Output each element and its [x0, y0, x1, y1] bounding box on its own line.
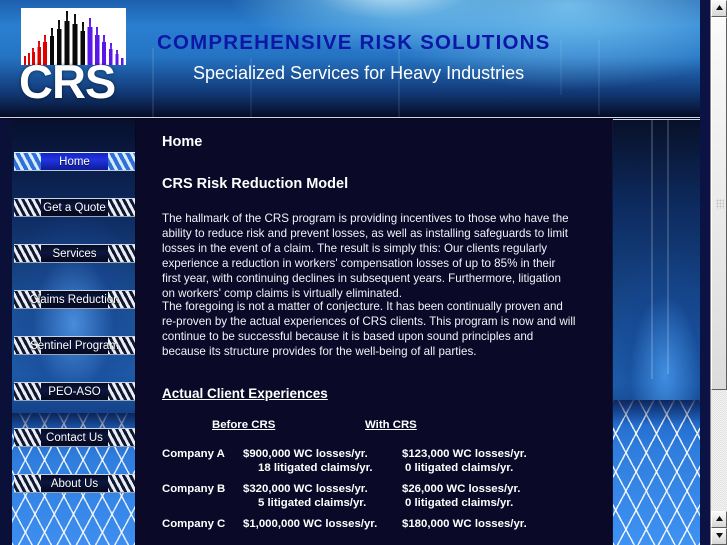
with-losses-value: $26,000 WC losses/yr.: [402, 483, 520, 495]
sidebar-item-label: Get a Quote: [14, 199, 135, 217]
sidebar-item-label: Sentinel Program: [14, 337, 135, 355]
sidebar-item-home[interactable]: Home: [14, 152, 135, 171]
scrollbar-thumb[interactable]: [711, 17, 727, 390]
sidebar-item-claims-reduction[interactable]: Claims Reduction: [14, 290, 135, 309]
company-name: Company A: [162, 448, 225, 460]
crs-logo[interactable]: CRS: [21, 8, 126, 113]
before-losses-value: $320,000 WC losses/yr.: [243, 483, 368, 495]
sidebar-item-label: Home: [14, 153, 135, 171]
before-claims-value: 5 litigated claims/yr.: [258, 497, 366, 509]
page-title: CRS Risk Reduction Model: [162, 176, 348, 192]
left-gutter: [0, 119, 12, 545]
intro-paragraph-2: The foregoing is not a matter of conject…: [162, 299, 576, 359]
right-panel-light-streaks: [613, 119, 700, 409]
with-claims-value: 0 litigated claims/yr.: [405, 462, 513, 474]
table-row-claims: 18 litigated claims/yr.0 litigated claim…: [162, 462, 582, 476]
table-row-losses: Company A$900,000 WC losses/yr.$123,000 …: [162, 448, 582, 462]
sidebar-item-label: Services: [14, 245, 135, 263]
right-decoration-panel: [613, 119, 700, 545]
sidebar-item-about-us[interactable]: About Us: [14, 474, 135, 493]
right-panel-top-hairline: [613, 119, 700, 120]
scrollbar-grip-icon: [716, 199, 724, 209]
nav-list: HomeGet a QuoteServicesClaims ReductionS…: [12, 119, 135, 545]
column-header-before: Before CRS: [212, 419, 275, 431]
with-losses-value: $123,000 WC losses/yr.: [402, 448, 527, 460]
intro-paragraph-1: The hallmark of the CRS program is provi…: [162, 211, 576, 302]
main-content: Home CRS Risk Reduction Model The hallma…: [136, 119, 612, 545]
before-claims-value: 18 litigated claims/yr.: [258, 462, 373, 474]
sidebar-item-label: Claims Reduction: [14, 291, 135, 309]
sidebar-item-label: About Us: [14, 475, 135, 493]
client-results-table: Before CRS With CRS Company A$900,000 WC…: [162, 419, 582, 545]
table-row: Company C$1,000,000 WC losses/yr.$180,00…: [162, 518, 582, 545]
table-body: Company A$900,000 WC losses/yr.$123,000 …: [162, 448, 582, 545]
table-row: Company B$320,000 WC losses/yr.$26,000 W…: [162, 483, 582, 511]
with-claims-value: 0 litigated claims/yr.: [405, 497, 513, 509]
before-losses-value: $900,000 WC losses/yr.: [243, 448, 368, 460]
site-title: COMPREHENSIVE RISK SOLUTIONS: [157, 31, 551, 55]
table-header-row: Before CRS With CRS: [162, 419, 582, 441]
before-losses-value: $1,000,000 WC losses/yr.: [243, 518, 377, 530]
table-row-claims: 5 litigated claims/yr.0 litigated claims…: [162, 497, 582, 511]
sidebar-item-label: PEO-ASO: [14, 383, 135, 401]
site-header: CRS COMPREHENSIVE RISK SOLUTIONS Special…: [0, 0, 710, 118]
column-header-with: With CRS: [365, 419, 417, 431]
scroll-up-arrow-icon[interactable]: [711, 0, 727, 17]
breadcrumb: Home: [162, 134, 202, 150]
right-gutter: [700, 0, 710, 545]
logo-wordmark: CRS: [19, 58, 115, 105]
section-heading-client-experiences: Actual Client Experiences: [162, 386, 328, 401]
sidebar-item-get-a-quote[interactable]: Get a Quote: [14, 198, 135, 217]
scroll-up-arrow-icon-bottom[interactable]: [711, 511, 727, 528]
sidebar-nav: HomeGet a QuoteServicesClaims ReductionS…: [12, 119, 135, 545]
table-row-losses: Company C$1,000,000 WC losses/yr.$180,00…: [162, 518, 582, 532]
sidebar-item-label: Contact Us: [14, 429, 135, 447]
scrollbar-track[interactable]: [711, 17, 727, 511]
company-name: Company B: [162, 483, 225, 495]
sidebar-item-services[interactable]: Services: [14, 244, 135, 263]
browser-page: CRS COMPREHENSIVE RISK SOLUTIONS Special…: [0, 0, 727, 545]
right-panel-grid-floor-decoration: [613, 400, 700, 545]
company-name: Company C: [162, 518, 225, 530]
sidebar-item-sentinel-program[interactable]: Sentinel Program: [14, 336, 135, 355]
table-row-claims: [162, 532, 582, 545]
table-row-losses: Company B$320,000 WC losses/yr.$26,000 W…: [162, 483, 582, 497]
table-row: Company A$900,000 WC losses/yr.$123,000 …: [162, 448, 582, 476]
vertical-scrollbar[interactable]: [710, 0, 727, 545]
sidebar-item-peo-aso[interactable]: PEO-ASO: [14, 382, 135, 401]
scroll-down-arrow-icon[interactable]: [711, 528, 727, 545]
sidebar-item-contact-us[interactable]: Contact Us: [14, 428, 135, 447]
with-losses-value: $180,000 WC losses/yr.: [402, 518, 527, 530]
site-tagline: Specialized Services for Heavy Industrie…: [193, 63, 524, 84]
